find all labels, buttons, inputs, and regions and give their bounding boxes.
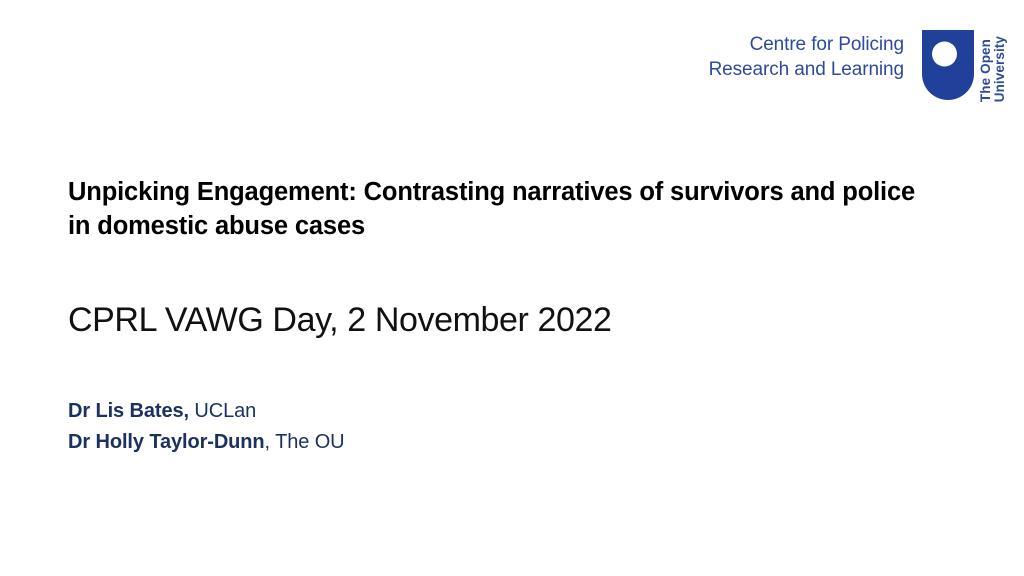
ou-wordmark-line-2: University [993,36,1007,102]
ou-wordmark-line-1: The Open [979,39,993,102]
author-entry-2: Dr Holly Taylor-Dunn, The OU [68,427,948,458]
author-entry-1: Dr Lis Bates, UCLan [68,396,948,427]
brand-header: Centre for Policing Research and Learnin… [709,30,1006,102]
author-name-2: Dr Holly Taylor-Dunn [68,431,265,453]
author-list: Dr Lis Bates, UCLan Dr Holly Taylor-Dunn… [68,341,948,458]
open-university-logo: The Open University [922,30,1006,102]
slide-content: Unpicking Engagement: Contrasting narrat… [68,176,948,458]
slide-title: Unpicking Engagement: Contrasting narrat… [68,176,938,244]
centre-name-line-1: Centre for Policing [709,32,904,57]
ou-shield-icon [922,30,974,102]
author-affiliation-1: UCLan [189,400,256,422]
ou-wordmark: The Open University [979,30,1006,102]
author-name-1: Dr Lis Bates, [68,400,189,422]
centre-name: Centre for Policing Research and Learnin… [709,30,904,83]
centre-name-line-2: Research and Learning [709,57,904,82]
presentation-slide: Centre for Policing Research and Learnin… [0,0,1024,576]
slide-subtitle: CPRL VAWG Day, 2 November 2022 [68,244,948,341]
author-affiliation-2: , The OU [265,431,345,453]
